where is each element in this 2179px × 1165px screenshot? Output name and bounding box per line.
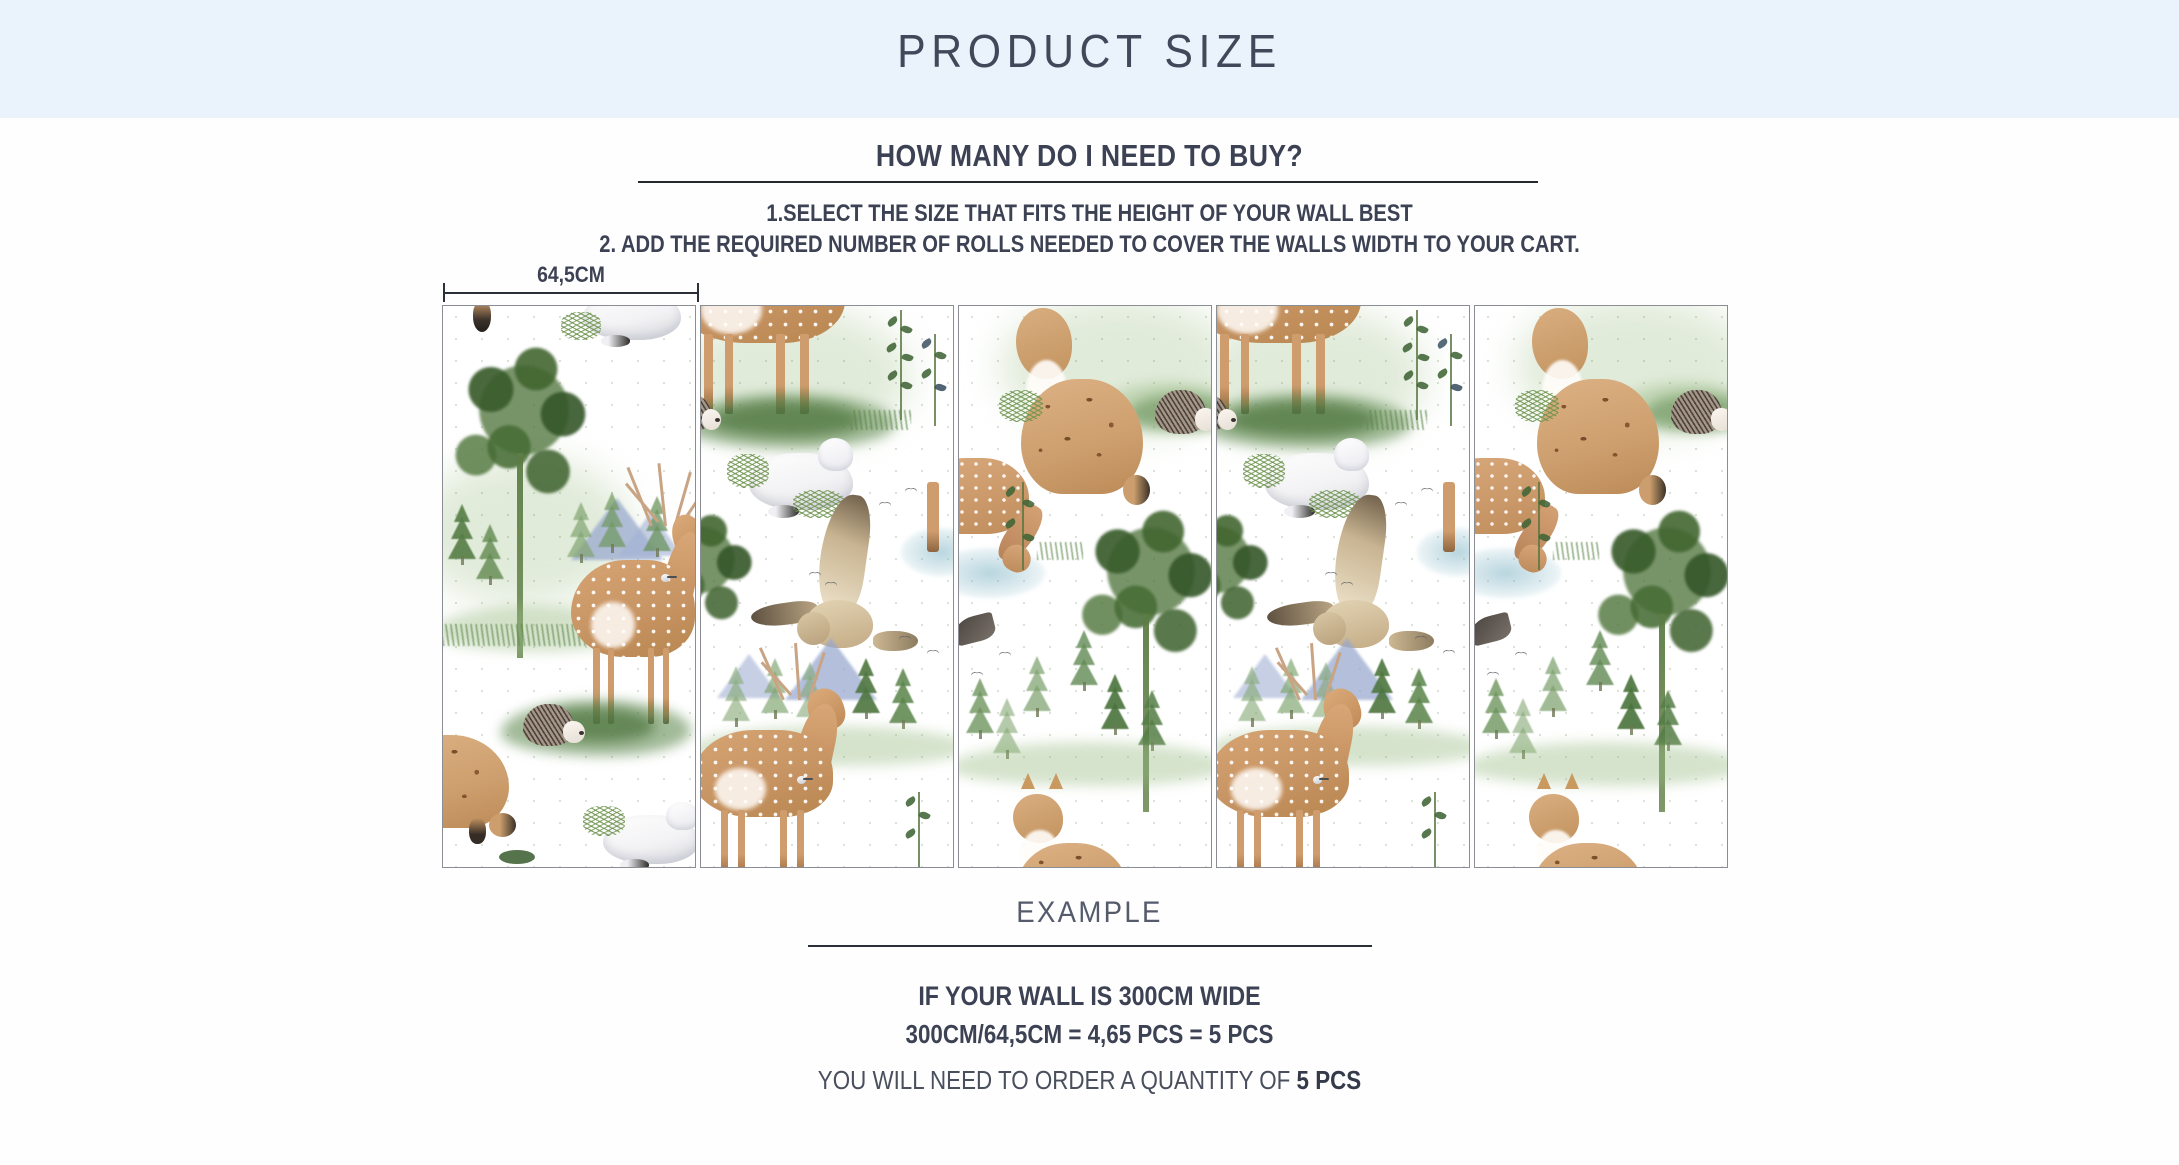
leafy-sprig [1525,482,1551,570]
dimension-line [443,292,699,294]
fir-tree [995,698,1019,752]
bird [825,582,837,588]
leafy-sprig [1009,482,1035,570]
lynx [442,678,509,828]
example-divider [808,945,1372,947]
fir-tree [1653,690,1683,754]
fir-tree [1511,698,1535,752]
fir-tree [1539,656,1567,718]
fir-tree [1615,674,1647,742]
example-result-quantity: 5 PCS [1297,1065,1362,1095]
fir-tree [1585,630,1615,694]
fir-tree [477,524,503,582]
bird [927,650,939,656]
wallpaper-panel[interactable] [1474,305,1728,868]
bird [1395,502,1407,508]
fir-tree [1069,630,1099,694]
wallpaper-panel[interactable] [958,305,1212,868]
leafy-sprig [923,334,945,426]
bird [1443,650,1455,656]
bird [905,488,917,494]
wallpaper-panel[interactable] [1216,305,1470,868]
fir-tree [889,668,917,728]
lynx [1017,794,1127,868]
leafy-sprig [1439,334,1461,426]
deer [571,518,695,728]
hedgehog [700,394,721,432]
leafy-sprig [1405,310,1427,420]
bird [661,574,677,582]
example-calculation: 300CM/64,5CM = 4,65 PCS = 5 PCS [153,1019,2027,1050]
bird [1325,572,1337,578]
deciduous-tree [1216,502,1281,658]
deer [1216,305,1361,418]
fir-tree [967,678,993,736]
bird [879,502,891,508]
leafy-sprig [907,792,929,868]
fir-tree [1405,668,1433,728]
deciduous-tree [700,502,765,658]
bird [1474,612,1514,647]
bird [958,612,998,647]
hedgehog [1155,390,1212,434]
example-result: YOU WILL NEED TO ORDER A QUANTITY OF 5 P… [153,1065,2027,1096]
bird [809,572,821,578]
bird [1313,776,1329,784]
bird [1415,636,1427,642]
fir-tree [1023,656,1051,718]
leafy-sprig [1423,792,1445,868]
example-title: EXAMPLE [87,896,2092,930]
instructions-heading: HOW MANY DO I NEED TO BUY? [153,138,2027,174]
bird [1341,582,1353,588]
fir-tree [1367,658,1397,722]
hedgehog [1216,394,1237,432]
instruction-step-1: 1.SELECT THE SIZE THAT FITS THE HEIGHT O… [174,200,2004,228]
lynx [1021,308,1143,494]
bird [1515,652,1527,658]
leafy-sprig [889,310,911,420]
bird [999,652,1011,658]
dimension-tick-left [443,283,445,302]
fir-tree [1483,678,1509,736]
heading-divider [638,181,1538,183]
instruction-step-2: 2. ADD THE REQUIRED NUMBER OF ROLLS NEED… [174,231,2004,259]
example-wall-width: IF YOUR WALL IS 300CM WIDE [153,981,2027,1012]
product-size-page: PRODUCT SIZE HOW MANY DO I NEED TO BUY? … [0,0,2179,1165]
page-title: PRODUCT SIZE [76,24,2102,78]
fir-tree [447,504,477,566]
ermine [603,802,696,868]
lynx [1537,308,1659,494]
hedgehog [1671,390,1728,434]
hedgehog [523,704,585,746]
bird [899,636,911,642]
lynx [1533,794,1643,868]
deer [1216,692,1349,868]
bird [1421,488,1433,494]
fir-tree [1099,674,1131,742]
roll-width-label: 64,5CM [458,262,683,288]
dimension-tick-right [697,283,699,302]
bird [797,776,813,784]
example-result-prefix: YOU WILL NEED TO ORDER A QUANTITY OF [818,1065,1297,1095]
owl [757,522,909,662]
wallpaper-panel[interactable] [700,305,954,868]
wallpaper-panel-strip [442,305,1736,868]
deer [700,692,833,868]
fir-tree [1137,690,1167,754]
wallpaper-panel[interactable] [442,305,696,868]
deer [700,305,845,418]
fir-tree [851,658,881,722]
owl [1273,522,1425,662]
